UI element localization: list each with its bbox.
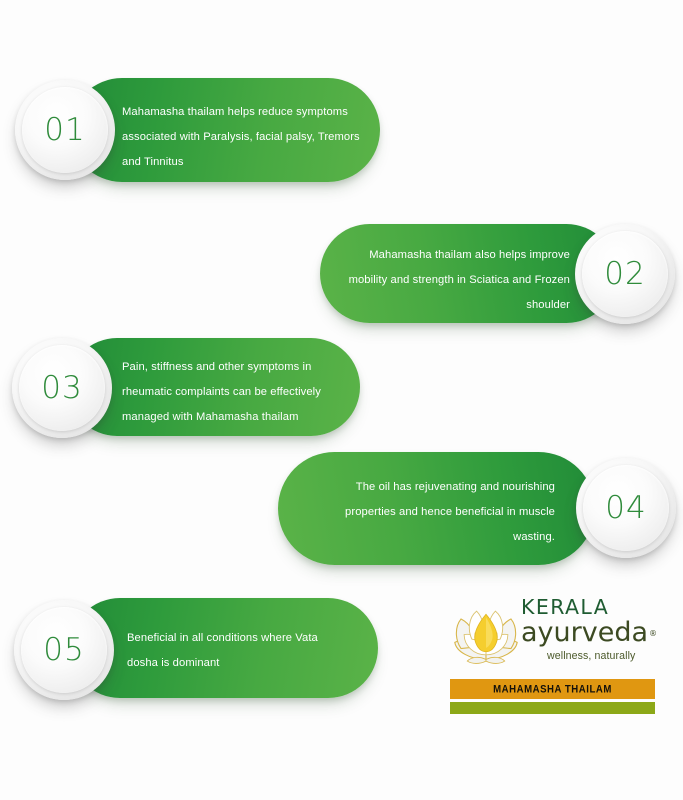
brand-wordmark: KERALA ayurveda® wellness, naturally <box>521 596 667 662</box>
accent-bar <box>450 702 655 714</box>
product-banner: MAHAMASHA THAILAM <box>450 679 655 699</box>
lotus-flower-icon <box>447 594 525 672</box>
step-text-02: Mahamasha thailam also helps improve mob… <box>330 243 570 318</box>
step-number-04: 04 <box>605 490 646 526</box>
step-badge-04: 04 <box>576 458 676 558</box>
step-number-03: 03 <box>41 370 82 406</box>
step-text-04: The oil has rejuvenating and nourishing … <box>320 475 555 550</box>
step-number-02: 02 <box>604 256 645 292</box>
step-badge-02: 02 <box>575 224 675 324</box>
step-badge-01: 01 <box>15 80 115 180</box>
step-text-05: Beneficial in all conditions where Vata … <box>127 626 352 676</box>
step-text-03: Pain, stiffness and other symptoms in rh… <box>122 355 347 430</box>
step-number-01: 01 <box>44 112 85 148</box>
brand-name-ayurveda: ayurveda® <box>521 618 667 648</box>
infographic-canvas: Mahamasha thailam helps reduce symptoms … <box>0 0 683 800</box>
registered-mark-icon: ® <box>649 619 657 649</box>
brand-logo-block: KERALA ayurveda® wellness, naturally MAH… <box>443 592 665 712</box>
step-badge-05: 05 <box>14 600 114 700</box>
step-number-05: 05 <box>43 632 84 668</box>
step-badge-03: 03 <box>12 338 112 438</box>
brand-name-kerala: KERALA <box>521 596 667 618</box>
brand-name-ayurveda-text: ayurveda <box>521 617 648 648</box>
step-text-01: Mahamasha thailam helps reduce symptoms … <box>122 100 370 175</box>
brand-tagline: wellness, naturally <box>547 650 667 662</box>
product-banner-label: MAHAMASHA THAILAM <box>493 683 612 695</box>
